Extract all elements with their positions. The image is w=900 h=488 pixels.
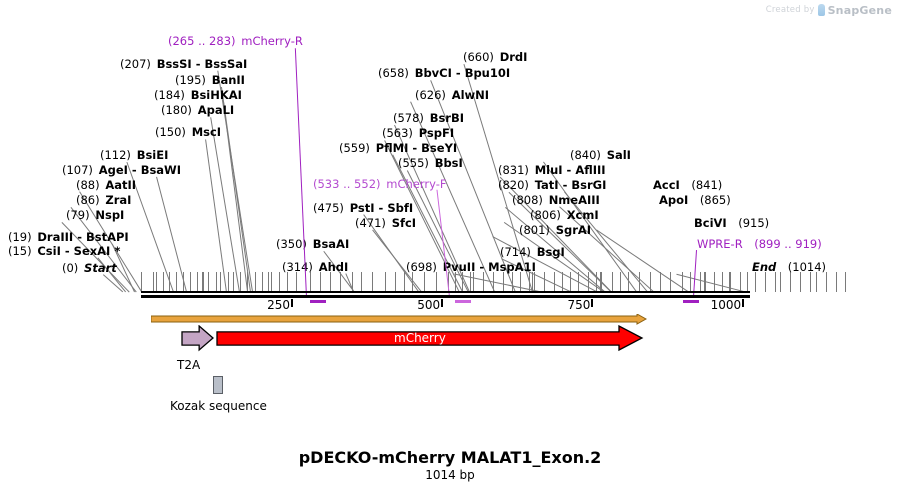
primer-range-mcherry-r: (265 .. 283) (168, 34, 236, 48)
enzyme-name-banii-0: BanII (212, 73, 245, 87)
enzyme-name-separator: - (452, 66, 465, 80)
enzyme-position-drdi: (660) (463, 50, 494, 64)
enzyme-position-apoi: (865) (700, 193, 731, 207)
enzyme-name-group-bsiei: BsiEI (137, 148, 169, 162)
enzyme-site-hashmark (153, 272, 154, 292)
enzyme-name-end-0: End (752, 260, 776, 274)
enzyme-label-msci[interactable]: (150) MscI (155, 126, 221, 138)
enzyme-label-sfci[interactable]: (471) SfcI (355, 217, 416, 229)
enzyme-name-bsaai-0: BsaAI (313, 237, 350, 251)
enzyme-name-separator: - (73, 230, 86, 244)
enzyme-position-pvuii-mspa1i: (698) (406, 260, 437, 274)
primer-range-wpre-r: (899 .. 919) (754, 237, 822, 251)
enzyme-name-bbvci-bpu10i-1: Bpu10I (465, 66, 510, 80)
primer-label-mcherry-f[interactable]: (533 .. 552) mCherry-F (313, 178, 446, 190)
enzyme-name-group-pflmi-bseyi: PflMI - BseYI (376, 141, 458, 155)
enzyme-name-group-drdi: DrdI (500, 50, 528, 64)
enzyme-site-hashmark (156, 272, 157, 292)
enzyme-label-zrai[interactable]: (86) ZraI (76, 194, 131, 206)
enzyme-name-separator: - (128, 163, 141, 177)
enzyme-site-hashmark (612, 272, 613, 292)
enzyme-site-hashmark (268, 272, 269, 292)
enzyme-name-separator: - (563, 163, 576, 177)
enzyme-name-drdi-0: DrdI (500, 50, 528, 64)
enzyme-name-separator: - (559, 178, 572, 192)
enzyme-label-sali[interactable]: (840) SalI (570, 149, 631, 161)
enzyme-label-tati-bsrgi[interactable]: (820) TatI - BsrGI (498, 179, 606, 191)
enzyme-site-hashmark (395, 272, 396, 292)
enzyme-position-zrai: (86) (76, 193, 100, 207)
enzyme-site-hashmark (544, 272, 545, 292)
enzyme-site-hashmark (424, 272, 425, 292)
enzyme-position-bcivi: (915) (738, 216, 769, 230)
enzyme-leader-line-agei-bsawi (156, 177, 187, 292)
enzyme-name-group-nmeaiii: NmeAIII (549, 193, 600, 207)
enzyme-site-hashmark (765, 272, 766, 292)
axis-label-250: 250 (267, 298, 290, 312)
enzyme-position-msci: (150) (155, 125, 186, 139)
enzyme-site-hashmark (620, 272, 621, 292)
enzyme-label-aatii[interactable]: (88) AatII (76, 179, 136, 191)
enzyme-name-acci-0: AccI (653, 178, 680, 192)
enzyme-position-bsssi-bsssai: (207) (120, 57, 151, 71)
enzyme-site-hashmark (436, 272, 437, 292)
enzyme-position-bsgi: (714) (500, 245, 531, 259)
enzyme-name-separator: - (61, 244, 74, 258)
enzyme-name-group-bsihkai: BsiHKAI (191, 88, 242, 102)
enzyme-name-zrai-0: ZraI (105, 193, 131, 207)
enzyme-site-hashmark (279, 272, 280, 292)
enzyme-position-bsaai: (350) (276, 237, 307, 251)
enzyme-name-apali-0: ApaLI (198, 103, 235, 117)
enzyme-position-alwni: (626) (415, 88, 446, 102)
enzyme-site-hashmark (570, 272, 571, 292)
enzyme-site-hashmark (816, 272, 817, 292)
enzyme-label-end[interactable]: End (1014) (752, 261, 826, 273)
enzyme-name-ahdi-0: AhdI (319, 260, 349, 274)
enzyme-position-sgrai: (801) (519, 223, 550, 237)
feature-label-mcherry: mCherry (394, 331, 446, 345)
enzyme-name-group-bsgi: BsgI (537, 245, 565, 259)
enzyme-label-bsgi[interactable]: (714) BsgI (500, 246, 565, 258)
enzyme-name-group-acci: AccI (653, 178, 680, 192)
enzyme-name-group-draiii-bstapi: DraIII - BstAPI (37, 230, 128, 244)
enzyme-name-group-bsssi-bsssai: BssSI - BssSaI (157, 57, 248, 71)
enzyme-label-bbvci-bpu10i[interactable]: (658) BbvCI - Bpu10I (378, 67, 510, 79)
enzyme-site-hashmark (385, 272, 386, 292)
enzyme-name-group-msci: MscI (192, 125, 221, 139)
enzyme-name-pflmi-bseyi-0: PflMI (376, 141, 409, 155)
axis-label-1000: 1000 (711, 298, 742, 312)
enzyme-name-start-0: Start (84, 261, 117, 275)
enzyme-site-hashmark (287, 272, 288, 292)
enzyme-position-bbsi: (555) (398, 156, 429, 170)
enzyme-name-group-psti-sbfi: PstI - SbfI (350, 201, 413, 215)
feature-box-kozak[interactable] (213, 376, 223, 394)
enzyme-label-banii[interactable]: (195) BanII (175, 74, 245, 86)
enzyme-name-separator: - (375, 201, 388, 215)
enzyme-label-acci[interactable]: AccI (841) (653, 179, 722, 191)
enzyme-label-apali[interactable]: (180) ApaLI (161, 104, 234, 116)
enzyme-position-aatii: (88) (76, 178, 100, 192)
enzyme-label-ahdi[interactable]: (314) AhdI (282, 261, 348, 273)
enzyme-site-hashmark (670, 272, 671, 292)
enzyme-site-hashmark (255, 272, 256, 292)
enzyme-name-msci-0: MscI (192, 125, 221, 139)
enzyme-name-group-bsrbi: BsrBI (430, 111, 464, 125)
enzyme-position-bbvci-bpu10i: (658) (378, 66, 409, 80)
enzyme-name-sfci-0: SfcI (392, 216, 416, 230)
enzyme-site-hashmark (755, 272, 756, 292)
enzyme-label-pflmi-bseyi[interactable]: (559) PflMI - BseYI (339, 142, 457, 154)
enzyme-name-csii-sexai-1: SexAI * (74, 244, 121, 258)
enzyme-name-nspi-0: NspI (95, 208, 124, 222)
enzyme-name-bsrbi-0: BsrBI (430, 111, 464, 125)
enzyme-label-csii-sexai[interactable]: (15) CsiI - SexAI * (8, 245, 120, 257)
enzyme-name-group-nspi: NspI (95, 208, 124, 222)
primer-label-wpre-r[interactable]: WPRE-R (899 .. 919) (697, 238, 822, 250)
enzyme-site-hashmark (330, 272, 331, 292)
enzyme-name-psti-sbfi-0: PstI (350, 201, 375, 215)
enzyme-position-draiii-bstapi: (19) (8, 230, 32, 244)
enzyme-label-bsaai[interactable]: (350) BsaAI (276, 238, 349, 250)
enzyme-name-agei-bsawi-0: AgeI (99, 163, 128, 177)
enzyme-label-drdi[interactable]: (660) DrdI (463, 51, 527, 63)
enzyme-position-end: (1014) (788, 260, 826, 274)
axis-tick-250 (291, 299, 293, 307)
enzyme-name-pvuii-mspa1i-1: MspA1I (488, 260, 536, 274)
enzyme-site-hashmark (271, 272, 272, 292)
enzyme-name-mlui-afliii-1: AflIII (575, 163, 605, 177)
enzyme-site-hashmark (361, 272, 362, 292)
enzyme-site-hashmark (503, 272, 504, 292)
enzyme-label-bsrbi[interactable]: (578) BsrBI (393, 112, 464, 124)
axis-tick-1000 (742, 299, 744, 307)
enzyme-site-hashmark (845, 272, 846, 292)
enzyme-site-hashmark (473, 272, 474, 292)
primer-leader-line-wpre-r (693, 250, 697, 297)
enzyme-name-group-tati-bsrgi: TatI - BsrGI (535, 178, 607, 192)
page-subtitle: 1014 bp (0, 468, 900, 482)
enzyme-label-pspfi[interactable]: (563) PspFI (382, 127, 454, 139)
enzyme-name-group-bbvci-bpu10i: BbvCI - Bpu10I (415, 66, 510, 80)
enzyme-label-bcivi[interactable]: BciVI (915) (694, 217, 769, 229)
enzyme-name-group-apoi: ApoI (659, 193, 688, 207)
enzyme-site-hashmark (826, 272, 827, 292)
enzyme-name-bsssi-bsssai-0: BssSI (157, 57, 192, 71)
enzyme-site-hashmark (780, 272, 781, 292)
enzyme-site-hashmark (520, 272, 521, 292)
axis-label-500: 500 (417, 298, 440, 312)
enzyme-label-bsiei[interactable]: (112) BsiEI (100, 149, 168, 161)
enzyme-name-group-ahdi: AhdI (319, 260, 349, 274)
enzyme-label-bbsi[interactable]: (555) BbsI (398, 157, 463, 169)
enzyme-site-hashmark (228, 272, 229, 292)
page-title: pDECKO-mCherry MALAT1_Exon.2 (0, 448, 900, 467)
axis-tick-500 (441, 299, 443, 307)
enzyme-name-apoi-0: ApoI (659, 193, 688, 207)
backbone-line-top (141, 291, 750, 293)
enzyme-name-group-pspfi: PspFI (419, 126, 454, 140)
primer-range-mcherry-f: (533 .. 552) (313, 177, 381, 191)
enzyme-position-xcmi: (806) (530, 208, 561, 222)
watermark-created-by-label: Created by (766, 5, 815, 15)
enzyme-position-pflmi-bseyi: (559) (339, 141, 370, 155)
enzyme-name-group-pvuii-mspa1i: PvuII - MspA1I (443, 260, 536, 274)
enzyme-site-hashmark (216, 272, 217, 292)
enzyme-position-mlui-afliii: (831) (498, 163, 529, 177)
enzyme-name-separator: - (475, 260, 488, 274)
enzyme-position-banii: (195) (175, 73, 206, 87)
enzyme-name-draiii-bstapi-1: BstAPI (86, 230, 129, 244)
watermark-brand-label: SnapGene (828, 4, 892, 17)
enzyme-site-hashmark (775, 272, 776, 292)
enzyme-name-sgrai-0: SgrAI (556, 223, 591, 237)
enzyme-site-hashmark (203, 272, 204, 292)
enzyme-site-hashmark (240, 272, 241, 292)
enzyme-position-pspfi: (563) (382, 126, 413, 140)
enzyme-position-bsrbi: (578) (393, 111, 424, 125)
primer-bar-mcherry-r (310, 300, 326, 303)
enzyme-name-group-agei-bsawi: AgeI - BsaWI (99, 163, 181, 177)
enzyme-name-xcmi-0: XcmI (567, 208, 599, 222)
enzyme-name-sali-0: SalI (607, 148, 631, 162)
enzyme-label-nmeaiii[interactable]: (808) NmeAIII (512, 194, 600, 206)
enzyme-name-psti-sbfi-1: SbfI (387, 201, 413, 215)
snapgene-watermark: Created by SnapGene (766, 2, 892, 18)
enzyme-site-hashmark (176, 272, 177, 292)
enzyme-label-apoi[interactable]: ApoI (865) (659, 194, 731, 206)
enzyme-name-bsgi-0: BsgI (537, 245, 565, 259)
enzyme-label-psti-sbfi[interactable]: (475) PstI - SbfI (313, 202, 413, 214)
enzyme-name-nmeaiii-0: NmeAIII (549, 193, 600, 207)
enzyme-position-bsiei: (112) (100, 148, 131, 162)
snapgene-logo-icon (818, 4, 825, 16)
enzyme-position-agei-bsawi: (107) (62, 163, 93, 177)
enzyme-site-hashmark (197, 272, 198, 292)
enzyme-site-hashmark (310, 272, 311, 292)
enzyme-name-group-zrai: ZraI (105, 193, 131, 207)
enzyme-position-acci: (841) (691, 178, 722, 192)
enzyme-site-hashmark (554, 272, 555, 292)
enzyme-site-hashmark (660, 272, 661, 292)
axis-label-750: 750 (567, 298, 590, 312)
enzyme-name-bsihkai-0: BsiHKAI (191, 88, 242, 102)
enzyme-label-sgrai[interactable]: (801) SgrAI (519, 224, 591, 236)
enzyme-name-group-banii: BanII (212, 73, 245, 87)
enzyme-name-group-sali: SalI (607, 148, 631, 162)
enzyme-site-hashmark (233, 272, 234, 292)
enzyme-label-pvuii-mspa1i[interactable]: (698) PvuII - MspA1I (406, 261, 536, 273)
enzyme-site-hashmark (320, 272, 321, 292)
enzyme-name-group-aatii: AatII (105, 178, 136, 192)
enzyme-name-group-csii-sexai: CsiI - SexAI * (37, 244, 120, 258)
enzyme-name-group-sgrai: SgrAI (556, 223, 591, 237)
primer-bar-mcherry-f (455, 300, 471, 303)
enzyme-position-nspi: (79) (66, 208, 90, 222)
enzyme-name-separator: - (192, 57, 205, 71)
primer-label-mcherry-r[interactable]: (265 .. 283) mCherry-R (168, 35, 303, 47)
enzyme-site-hashmark (470, 272, 471, 292)
enzyme-name-group-alwni: AlwNI (452, 88, 489, 102)
plasmid-map-canvas: Created by SnapGene (0) Start(15) CsiI -… (0, 0, 900, 488)
enzyme-name-pflmi-bseyi-1: BseYI (421, 141, 457, 155)
enzyme-name-bbvci-bpu10i-0: BbvCI (415, 66, 452, 80)
enzyme-name-pvuii-mspa1i-0: PvuII (443, 260, 476, 274)
enzyme-site-hashmark (690, 272, 691, 292)
enzyme-position-sali: (840) (570, 148, 601, 162)
enzyme-name-group-bsaai: BsaAI (313, 237, 350, 251)
enzyme-name-group-apali: ApaLI (198, 103, 235, 117)
enzyme-site-hashmark (810, 272, 811, 292)
enzyme-name-group-end: End (752, 260, 776, 274)
enzyme-position-tati-bsrgi: (820) (498, 178, 529, 192)
enzyme-site-hashmark (208, 272, 209, 292)
enzyme-site-hashmark (220, 272, 221, 292)
enzyme-site-hashmark (722, 272, 723, 292)
enzyme-name-alwni-0: AlwNI (452, 88, 489, 102)
enzyme-name-mlui-afliii-0: MluI (535, 163, 563, 177)
primer-name-wpre-r: WPRE-R (697, 237, 743, 251)
enzyme-name-group-start: Start (84, 261, 117, 275)
enzyme-name-agei-bsawi-1: BsaWI (141, 163, 181, 177)
enzyme-site-hashmark (714, 272, 715, 292)
enzyme-name-pspfi-0: PspFI (419, 126, 454, 140)
enzyme-site-hashmark (483, 272, 484, 292)
enzyme-position-bsihkai: (184) (154, 88, 185, 102)
enzyme-name-aatii-0: AatII (105, 178, 136, 192)
enzyme-site-hashmark (700, 272, 701, 292)
enzyme-site-hashmark (740, 272, 741, 292)
enzyme-name-separator: - (408, 141, 421, 155)
enzyme-name-bcivi-0: BciVI (694, 216, 727, 230)
enzyme-name-tati-bsrgi-1: BsrGI (571, 178, 606, 192)
enzyme-name-group-bbsi: BbsI (435, 156, 463, 170)
enzyme-position-csii-sexai: (15) (8, 244, 32, 258)
enzyme-site-hashmark (262, 272, 263, 292)
enzyme-position-sfci: (471) (355, 216, 386, 230)
enzyme-label-draiii-bstapi[interactable]: (19) DraIII - BstAPI (8, 231, 129, 243)
enzyme-label-nspi[interactable]: (79) NspI (66, 209, 124, 221)
backbone-line-bottom (141, 295, 750, 298)
enzyme-label-xcmi[interactable]: (806) XcmI (530, 209, 599, 221)
enzyme-name-bbsi-0: BbsI (435, 156, 463, 170)
enzyme-label-bsihkai[interactable]: (184) BsiHKAI (154, 89, 242, 101)
enzyme-name-group-xcmi: XcmI (567, 208, 599, 222)
enzyme-label-bsssi-bsssai[interactable]: (207) BssSI - BssSaI (120, 58, 247, 70)
primer-bar-wpre-r (683, 300, 699, 303)
enzyme-site-hashmark (800, 272, 801, 292)
enzyme-name-group-sfci: SfcI (392, 216, 416, 230)
enzyme-position-apali: (180) (161, 103, 192, 117)
enzyme-site-hashmark (163, 272, 164, 292)
enzyme-label-start[interactable]: (0) Start (62, 262, 117, 274)
enzyme-name-group-bcivi: BciVI (694, 216, 727, 230)
enzyme-name-draiii-bstapi-0: DraIII (37, 230, 73, 244)
enzyme-label-alwni[interactable]: (626) AlwNI (415, 89, 489, 101)
enzyme-site-hashmark (836, 272, 837, 292)
enzyme-site-hashmark (372, 272, 373, 292)
enzyme-site-hashmark (747, 272, 748, 292)
enzyme-name-group-mlui-afliii: MluI - AflIII (535, 163, 606, 177)
enzyme-name-csii-sexai-0: CsiI (37, 244, 61, 258)
enzyme-name-tati-bsrgi-0: TatI (535, 178, 559, 192)
enzyme-name-bsssi-bsssai-1: BssSaI (205, 57, 248, 71)
enzyme-position-start: (0) (62, 261, 78, 275)
enzyme-label-agei-bsawi[interactable]: (107) AgeI - BsaWI (62, 164, 181, 176)
axis-tick-750 (591, 299, 593, 307)
enzyme-position-nmeaiii: (808) (512, 193, 543, 207)
feature-label-t2a: T2A (177, 358, 200, 372)
feature-arrow-t2a[interactable] (181, 325, 216, 353)
primer-name-mcherry-r: mCherry-R (241, 34, 303, 48)
enzyme-site-hashmark (190, 272, 191, 292)
enzyme-site-hashmark (141, 272, 142, 292)
enzyme-name-bsiei-0: BsiEI (137, 148, 169, 162)
enzyme-position-ahdi: (314) (282, 260, 313, 274)
enzyme-site-hashmark (404, 272, 405, 292)
feature-label-kozak: Kozak sequence (170, 399, 267, 413)
enzyme-position-psti-sbfi: (475) (313, 201, 344, 215)
enzyme-site-hashmark (790, 272, 791, 292)
enzyme-site-hashmark (296, 272, 297, 292)
enzyme-leader-line-msci (205, 139, 227, 292)
enzyme-label-mlui-afliii[interactable]: (831) MluI - AflIII (498, 164, 606, 176)
